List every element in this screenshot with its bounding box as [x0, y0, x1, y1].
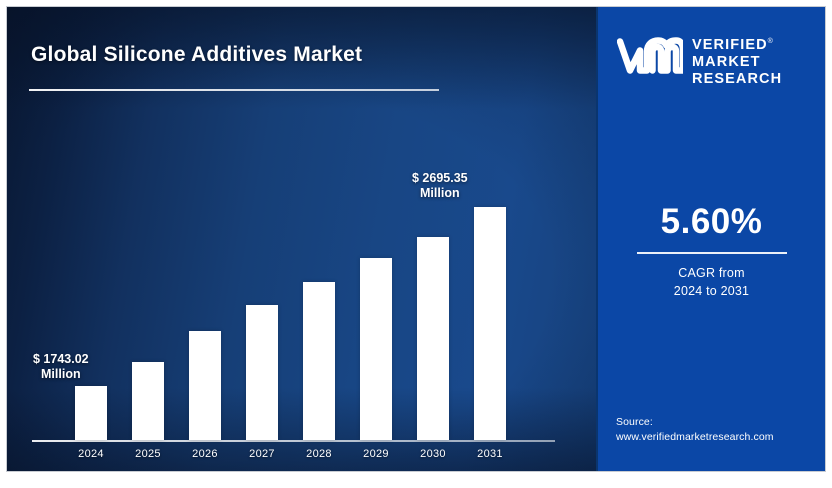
- bar-2029: [360, 258, 392, 440]
- bar-2025: [132, 362, 164, 440]
- brand-panel: VERIFIED® MARKET RESEARCH 5.60% CAGR fro…: [596, 7, 825, 471]
- registered-trademark-icon: ®: [768, 38, 773, 45]
- source-url[interactable]: www.verifiedmarketresearch.com: [616, 430, 774, 445]
- bar-2026: [189, 331, 221, 440]
- value-callout-last-unit: Million: [412, 186, 468, 201]
- source-block: Source: www.verifiedmarketresearch.com: [616, 415, 774, 445]
- brand-name-line-2: MARKET: [692, 54, 761, 70]
- cagr-caption-line-1: CAGR from: [598, 264, 825, 282]
- cagr-divider: [637, 252, 787, 254]
- bar-2028: [303, 282, 335, 440]
- cagr-value: 5.60%: [598, 204, 825, 239]
- infographic-frame: Global Silicone Additives Market 2024202…: [6, 6, 826, 472]
- cagr-block: 5.60% CAGR from 2024 to 2031: [598, 204, 825, 300]
- x-axis-line: [32, 440, 555, 442]
- value-callout-first-unit: Million: [33, 367, 89, 382]
- x-axis-tick-2031: 2031: [462, 448, 518, 460]
- x-axis-tick-2028: 2028: [291, 448, 347, 460]
- bar-chart-plot: 20242025202620272028202920302031: [7, 7, 596, 471]
- x-axis-tick-2029: 2029: [348, 448, 404, 460]
- vmr-monogram-icon: [617, 36, 683, 76]
- bar-2031: [474, 207, 506, 440]
- x-axis-tick-2025: 2025: [120, 448, 176, 460]
- value-callout-first: $ 1743.02 Million: [33, 352, 89, 383]
- bar-2024: [75, 386, 107, 440]
- x-axis-tick-2024: 2024: [63, 448, 119, 460]
- bar-2030: [417, 237, 449, 440]
- verified-market-research-logo: VERIFIED® MARKET RESEARCH: [617, 36, 782, 88]
- brand-name-line-3: RESEARCH: [692, 71, 782, 87]
- bar-2027: [246, 305, 278, 440]
- value-callout-first-amount: $ 1743.02: [33, 352, 89, 367]
- x-axis-tick-2030: 2030: [405, 448, 461, 460]
- x-axis-tick-2026: 2026: [177, 448, 233, 460]
- value-callout-last-amount: $ 2695.35: [412, 171, 468, 186]
- cagr-caption-line-2: 2024 to 2031: [598, 282, 825, 300]
- brand-name-line-1: VERIFIED: [692, 37, 768, 53]
- brand-wordmark: VERIFIED® MARKET RESEARCH: [692, 37, 782, 88]
- source-label: Source:: [616, 415, 774, 430]
- chart-panel: Global Silicone Additives Market 2024202…: [7, 7, 596, 471]
- value-callout-last: $ 2695.35 Million: [412, 171, 468, 202]
- infographic-canvas: Global Silicone Additives Market 2024202…: [0, 0, 832, 488]
- cagr-caption: CAGR from 2024 to 2031: [598, 264, 825, 300]
- x-axis-tick-2027: 2027: [234, 448, 290, 460]
